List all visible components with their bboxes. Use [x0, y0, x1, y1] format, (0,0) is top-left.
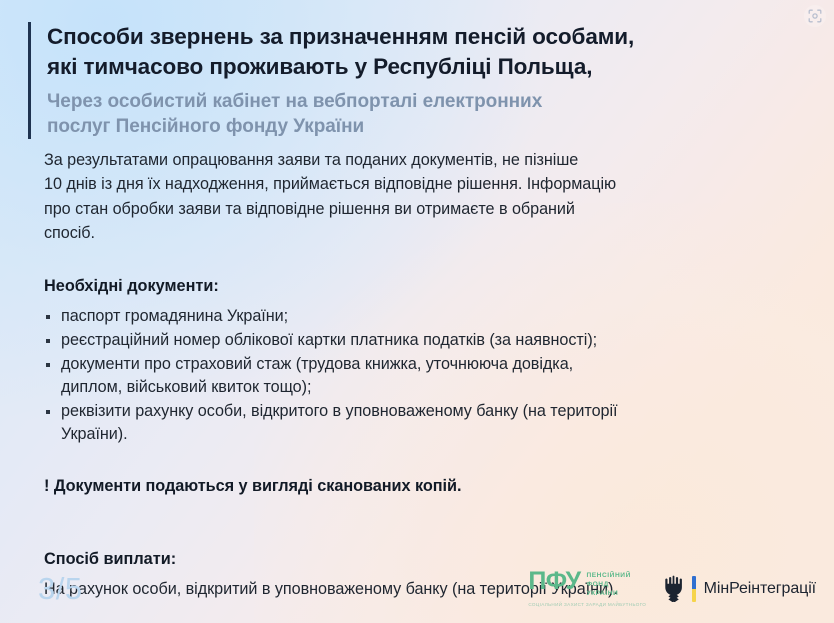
pfu-wordmark: ПЕНСІЙНИЙ ФОНД УКРАЇНИ — [586, 570, 630, 599]
scan-frame-icon — [804, 5, 826, 27]
list-item-line: реєстраційний номер облікової картки пла… — [61, 329, 814, 353]
list-item-line: паспорт громадянина України; — [61, 305, 814, 329]
list-item-line: реквізити рахунку особи, відкритого в уп… — [61, 400, 814, 424]
slide-root: Способи звернень за призначенням пенсій … — [0, 0, 834, 623]
subtitle-line-2: послуг Пенсійного фонду України — [47, 114, 800, 139]
ukraine-flag-bar — [692, 576, 696, 602]
pfu-logo-row: ПФУ ПЕНСІЙНИЙ ФОНД УКРАЇНИ — [528, 570, 631, 599]
pfu-word-3: УКРАЇНИ — [586, 590, 630, 599]
intro-line-2: 10 днів із дня їх надходження, приймаєть… — [44, 172, 814, 196]
page-number: 3/5 — [38, 571, 83, 607]
slide-header: Способи звернень за призначенням пенсій … — [28, 22, 800, 139]
intro-paragraph: За результатами опрацювання заяви та под… — [44, 148, 814, 245]
slide-content: За результатами опрацювання заяви та под… — [44, 148, 814, 602]
intro-line-4: спосіб. — [44, 221, 814, 245]
page-title: Способи звернень за призначенням пенсій … — [47, 22, 800, 82]
list-item-line: України). — [61, 423, 814, 447]
trident-icon — [663, 575, 684, 602]
pfu-tagline: СОЦІАЛЬНИЙ ЗАХИСТ ЗАРАДИ МАЙБУТНЬОГО — [528, 602, 646, 607]
subtitle-line-1: Через особистий кабінет на вебпорталі ел… — [47, 89, 800, 114]
documents-list: паспорт громадянина України; реєстраційн… — [44, 305, 814, 447]
documents-heading: Необхідні документи: — [44, 277, 814, 296]
intro-line-3: про стан обробки заяви та відповідне ріш… — [44, 197, 814, 221]
page-subtitle: Через особистий кабінет на вебпорталі ел… — [47, 89, 800, 139]
payment-heading: Спосіб виплати: — [44, 550, 814, 569]
footer-logos: ПФУ ПЕНСІЙНИЙ ФОНД УКРАЇНИ СОЦІАЛЬНИЙ ЗА… — [528, 570, 816, 607]
title-line-2: які тимчасово проживають у Республіці По… — [47, 52, 800, 82]
list-item: реквізити рахунку особи, відкритого в уп… — [44, 400, 814, 447]
list-item-line: диплом, військовий квиток тощо); — [61, 376, 814, 400]
list-item: документи про страховий стаж (трудова кн… — [44, 353, 814, 400]
scanned-copies-note: ! Документи подаються у вигляді сканован… — [44, 477, 814, 496]
intro-line-1: За результатами опрацювання заяви та под… — [44, 148, 814, 172]
pfu-logo: ПФУ ПЕНСІЙНИЙ ФОНД УКРАЇНИ СОЦІАЛЬНИЙ ЗА… — [528, 570, 646, 607]
list-item: паспорт громадянина України; — [44, 305, 814, 329]
ministry-logo: МінРеінтеграції — [663, 575, 816, 602]
pfu-word-1: ПЕНСІЙНИЙ — [586, 572, 630, 581]
pfu-monogram: ПФУ — [528, 570, 580, 594]
list-item: реєстраційний номер облікової картки пла… — [44, 329, 814, 353]
title-line-1: Способи звернень за призначенням пенсій … — [47, 22, 800, 52]
list-item-line: документи про страховий стаж (трудова кн… — [61, 353, 814, 377]
ministry-name: МінРеінтеграції — [704, 580, 816, 598]
pfu-word-2: ФОНД — [586, 581, 630, 590]
